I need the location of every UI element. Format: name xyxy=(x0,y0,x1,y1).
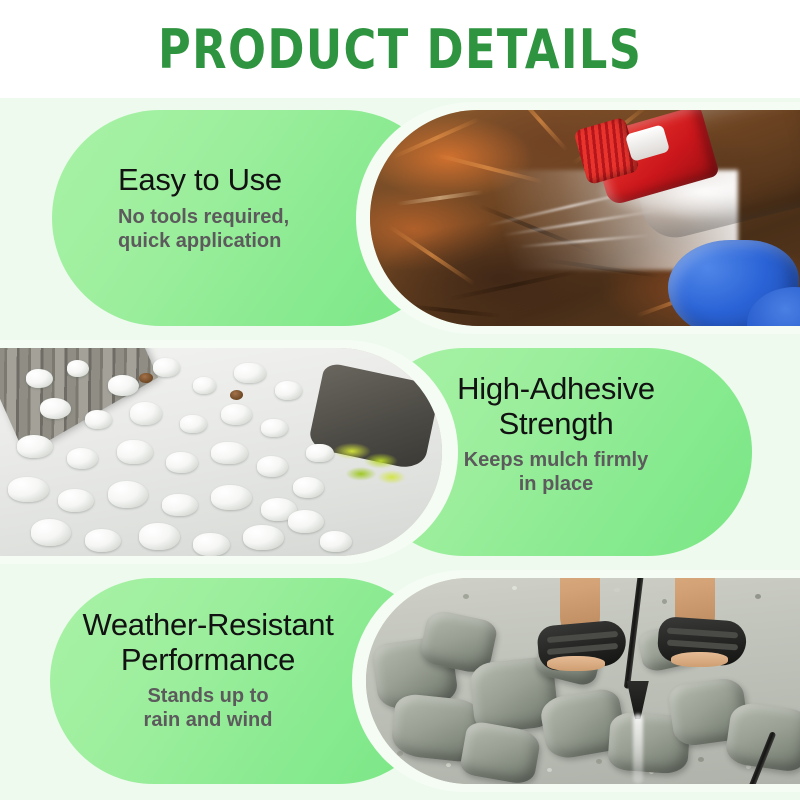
card-2-text: High-Adhesive Strength Keeps mulch firml… xyxy=(406,372,706,496)
card-2-photo xyxy=(0,348,442,556)
card-3-photo xyxy=(366,578,800,784)
card-2-subheading: Keeps mulch firmly in place xyxy=(406,448,706,496)
card-1-heading: Easy to Use xyxy=(118,163,368,198)
card-3-text: Weather-Resistant Performance Stands up … xyxy=(58,608,358,732)
page-title: PRODUCT DETAILS xyxy=(158,18,642,81)
water-jet xyxy=(633,714,643,784)
card-3-subheading: Stands up to rain and wind xyxy=(58,684,358,732)
card-1-subheading: No tools required, quick application xyxy=(118,205,368,253)
title-bar: PRODUCT DETAILS xyxy=(0,0,800,98)
card-1-text: Easy to Use No tools required, quick app… xyxy=(118,163,368,253)
card-3-heading: Weather-Resistant Performance xyxy=(58,608,358,677)
card-2-heading: High-Adhesive Strength xyxy=(406,372,706,441)
card-1-photo xyxy=(370,110,800,326)
infographic-page: PRODUCT DETAILS xyxy=(0,0,800,800)
green-sprout xyxy=(325,435,415,489)
